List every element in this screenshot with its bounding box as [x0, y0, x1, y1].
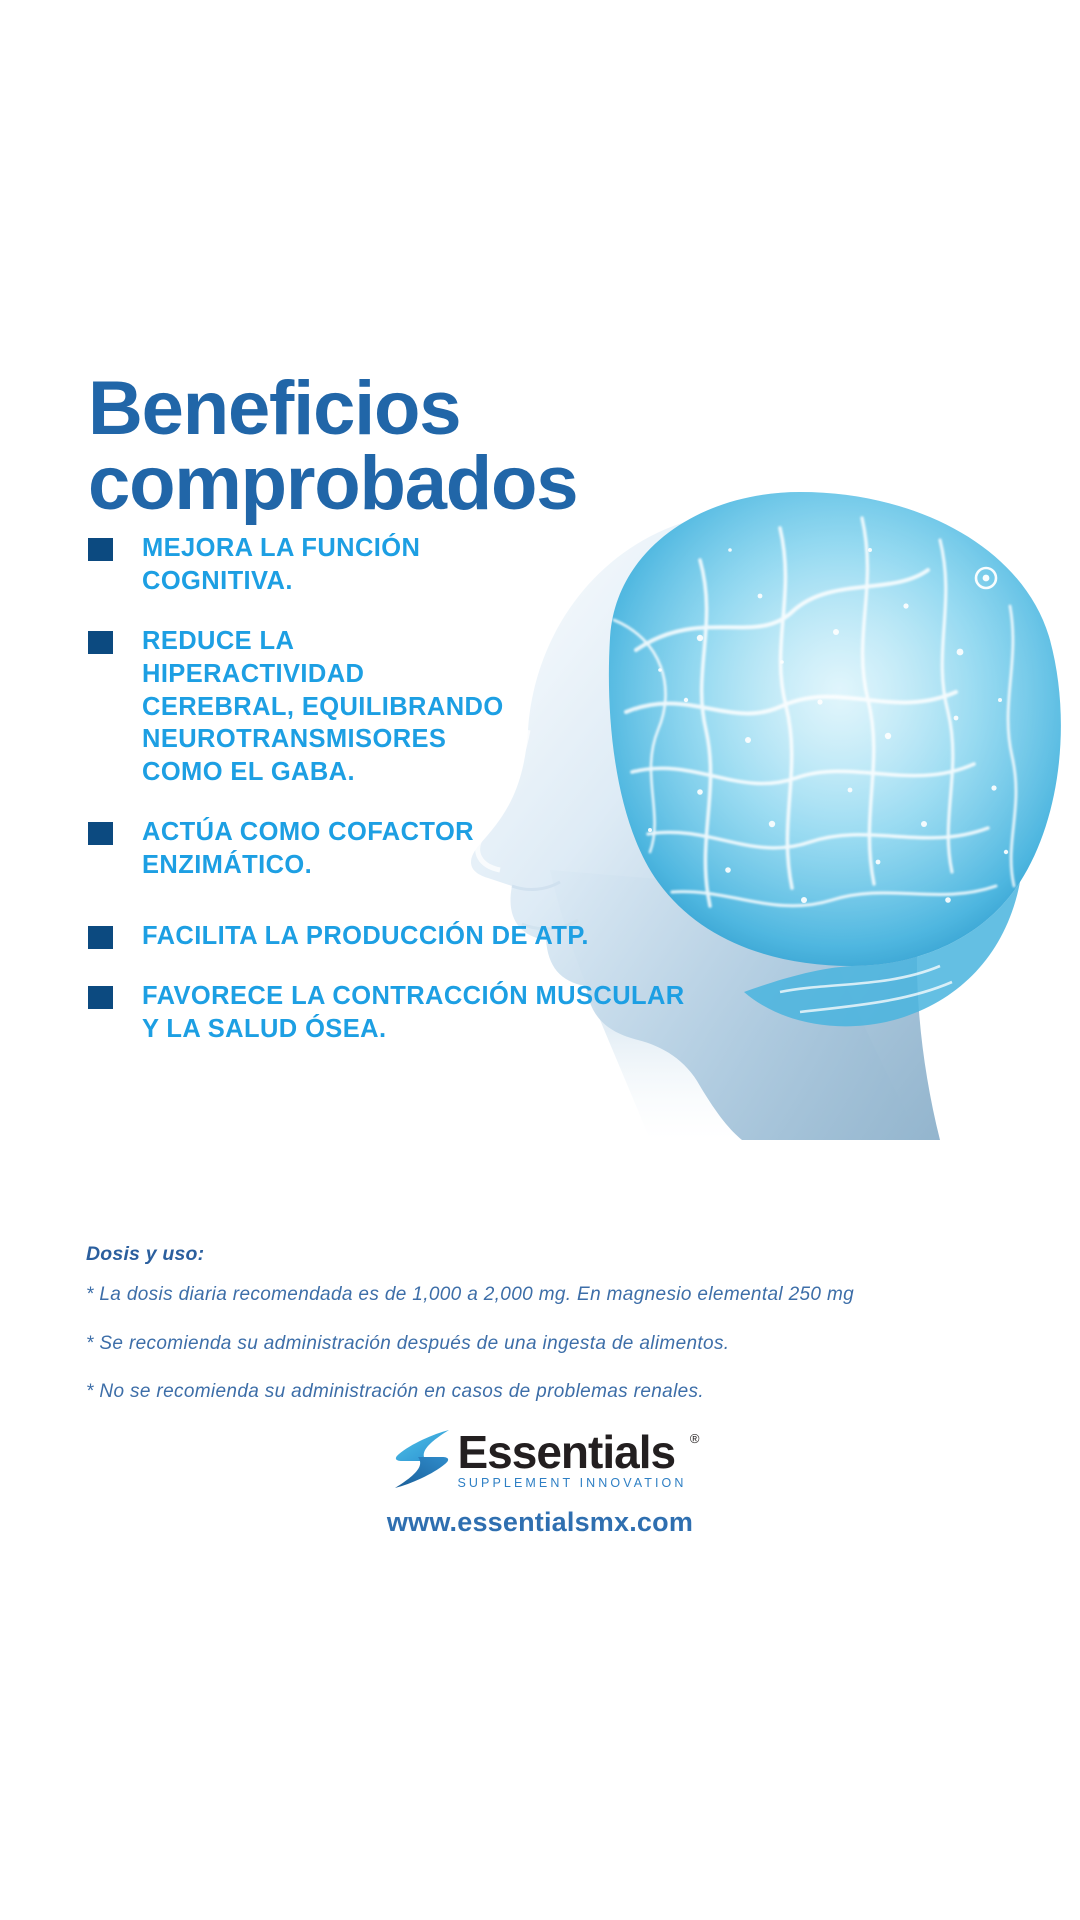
dosage-line: * Se recomienda su administración despué…: [86, 1332, 986, 1357]
benefit-text: MEJORA LA FUNCIÓN COGNITIVA.: [142, 532, 768, 597]
dosage-section: Dosis y uso: * La dosis diaria recomenda…: [86, 1243, 986, 1429]
logo-wordmark: Essentials: [457, 1429, 686, 1475]
benefit-item-brain-hyperactivity: REDUCE LA HIPERACTIVIDAD CEREBRAL, EQUIL…: [88, 625, 768, 788]
bullet-square-icon: [88, 631, 113, 654]
benefit-item-enzymatic-cofactor: ACTÚA COMO COFACTOR ENZIMÁTICO.: [88, 816, 768, 881]
page-title: Beneficios comprobados: [88, 371, 577, 521]
benefits-list: MEJORA LA FUNCIÓN COGNITIVA. REDUCE LA H…: [88, 532, 768, 1074]
registered-trademark-icon: ®: [690, 1431, 700, 1446]
benefit-text: ACTÚA COMO COFACTOR ENZIMÁTICO.: [142, 816, 768, 881]
dosage-line: * No se recomienda su administración en …: [86, 1380, 986, 1405]
bullet-square-icon: [88, 538, 113, 561]
benefit-text: FAVORECE LA CONTRACCIÓN MUSCULAR Y LA SA…: [142, 980, 768, 1045]
essentials-bolt-icon: [393, 1428, 451, 1490]
benefit-text: FACILITA LA PRODUCCIÓN DE ATP.: [142, 920, 768, 953]
bullet-square-icon: [88, 926, 113, 949]
brand-logo: Essentials ® SUPPLEMENT INNOVATION: [0, 1428, 1080, 1495]
website-url[interactable]: www.essentialsmx.com: [0, 1507, 1080, 1538]
dosage-title: Dosis y uso:: [86, 1243, 986, 1266]
headline-line-2: comprobados: [88, 446, 577, 521]
website-url-text: www.essentialsmx.com: [387, 1507, 693, 1537]
logo-tagline: SUPPLEMENT INNOVATION: [457, 1476, 686, 1490]
poster-content: Beneficios comprobados MEJORA LA FUNCIÓN…: [0, 0, 1080, 1920]
bullet-square-icon: [88, 986, 113, 1009]
benefit-item-cognitive-function: MEJORA LA FUNCIÓN COGNITIVA.: [88, 532, 768, 597]
dosage-line: * La dosis diaria recomendada es de 1,00…: [86, 1283, 986, 1308]
benefit-text: REDUCE LA HIPERACTIVIDAD CEREBRAL, EQUIL…: [142, 625, 768, 788]
benefit-item-atp-production: FACILITA LA PRODUCCIÓN DE ATP.: [88, 920, 768, 953]
headline-line-1: Beneficios: [88, 371, 577, 446]
bullet-square-icon: [88, 822, 113, 845]
benefit-item-muscle-bone: FAVORECE LA CONTRACCIÓN MUSCULAR Y LA SA…: [88, 980, 768, 1045]
